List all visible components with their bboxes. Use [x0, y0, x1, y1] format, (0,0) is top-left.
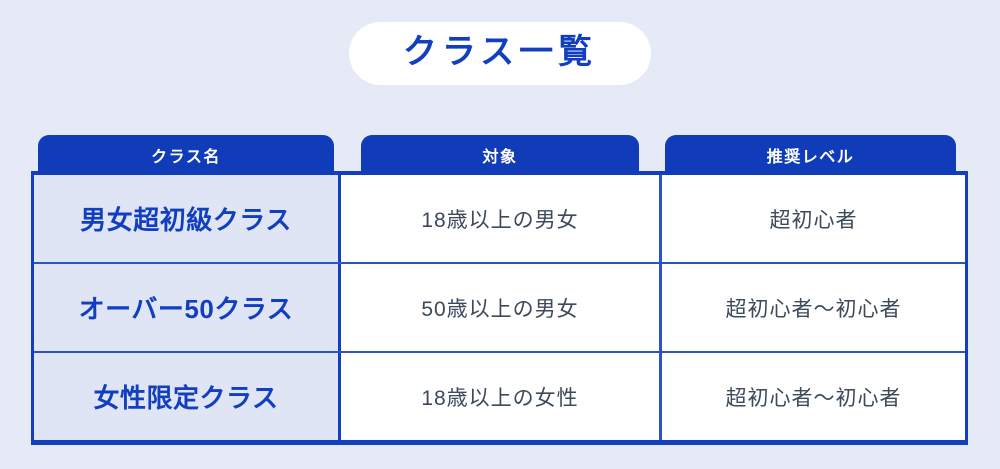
page-title-container: クラス一覧	[0, 22, 1000, 85]
table-row: オーバー50クラス 50歳以上の男女 超初心者〜初心者	[34, 264, 965, 353]
table-body: 男女超初級クラス 18歳以上の男女 超初心者 オーバー50クラス 50歳以上の男…	[31, 175, 968, 445]
cell-recommended-level: 超初心者〜初心者	[662, 353, 965, 440]
title-pill: クラス一覧	[349, 22, 651, 85]
class-list-table: クラス名 対象 推奨レベル 男女超初級クラス 18歳以上の男女 超初心者 オーバ…	[31, 131, 968, 445]
cell-recommended-level: 超初心者	[662, 175, 965, 262]
column-header-class-name: クラス名	[38, 135, 334, 175]
cell-target: 18歳以上の男女	[341, 175, 662, 262]
table-row: 女性限定クラス 18歳以上の女性 超初心者〜初心者	[34, 353, 965, 440]
table-header-row: クラス名 対象 推奨レベル	[31, 131, 968, 175]
page-title: クラス一覧	[403, 33, 597, 72]
table-row: 男女超初級クラス 18歳以上の男女 超初心者	[34, 175, 965, 264]
cell-target: 50歳以上の男女	[341, 264, 662, 351]
column-header-recommended-level: 推奨レベル	[665, 135, 956, 175]
cell-class-name: 女性限定クラス	[34, 353, 341, 440]
cell-class-name: 男女超初級クラス	[34, 175, 341, 262]
cell-class-name: オーバー50クラス	[34, 264, 341, 351]
column-header-target: 対象	[361, 135, 639, 175]
cell-recommended-level: 超初心者〜初心者	[662, 264, 965, 351]
cell-target: 18歳以上の女性	[341, 353, 662, 440]
